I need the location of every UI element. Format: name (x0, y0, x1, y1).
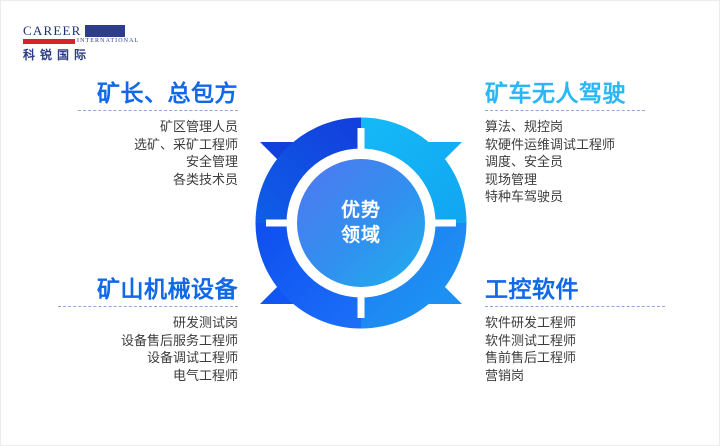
category-item: 选矿、采矿工程师 (23, 136, 238, 154)
category-item: 营销岗 (485, 367, 700, 385)
logo-middle-row: INTERNATIONAL (23, 38, 143, 45)
category-item: 各类技术员 (23, 171, 238, 189)
category-item: 设备调试工程师 (23, 349, 238, 367)
category-item: 调度、安全员 (485, 153, 700, 171)
logo-wordmark-en: CAREER (23, 24, 81, 37)
company-logo: CAREER INTERNATIONAL 科锐国际 (23, 23, 143, 59)
title-divider (58, 306, 238, 307)
category-item: 研发测试岗 (23, 314, 238, 332)
donut-svg (246, 108, 476, 338)
logo-wordmark-cn: 科锐国际 (23, 48, 143, 62)
logo-blue-block-icon (85, 25, 125, 37)
category-item: 算法、规控岗 (485, 118, 700, 136)
category-item: 软件研发工程师 (485, 314, 700, 332)
title-divider (485, 306, 665, 307)
category-block-bottom-left: 矿山机械设备 研发测试岗 设备售后服务工程师 设备调试工程师 电气工程师 (23, 275, 238, 384)
category-block-top-left: 矿长、总包方 矿区管理人员 选矿、采矿工程师 安全管理 各类技术员 (23, 79, 238, 188)
category-item: 电气工程师 (23, 367, 238, 385)
category-item: 售前售后工程师 (485, 349, 700, 367)
category-block-top-right: 矿车无人驾驶 算法、规控岗 软硬件运维调试工程师 调度、安全员 现场管理 特种车… (485, 79, 700, 206)
category-item: 软硬件运维调试工程师 (485, 136, 700, 154)
donut-diagram: 优势 领域 (246, 108, 476, 338)
category-title: 矿车无人驾驶 (485, 79, 700, 107)
logo-top-row: CAREER (23, 23, 143, 37)
logo-subtitle-en: INTERNATIONAL (77, 38, 139, 45)
category-item: 特种车驾驶员 (485, 188, 700, 206)
category-item: 安全管理 (23, 153, 238, 171)
category-item: 设备售后服务工程师 (23, 332, 238, 350)
category-title: 矿山机械设备 (23, 275, 238, 303)
category-block-bottom-right: 工控软件 软件研发工程师 软件测试工程师 售前售后工程师 营销岗 (485, 275, 700, 384)
logo-red-bar-icon (23, 39, 75, 44)
category-item: 矿区管理人员 (23, 118, 238, 136)
title-divider (78, 110, 238, 111)
category-item: 现场管理 (485, 171, 700, 189)
slide-canvas: CAREER INTERNATIONAL 科锐国际 矿长、总包方 矿区管理人员 … (0, 0, 720, 446)
center-circle[interactable] (297, 159, 425, 287)
category-title: 工控软件 (485, 275, 700, 303)
category-title: 矿长、总包方 (23, 79, 238, 107)
title-divider (485, 110, 645, 111)
category-item: 软件测试工程师 (485, 332, 700, 350)
